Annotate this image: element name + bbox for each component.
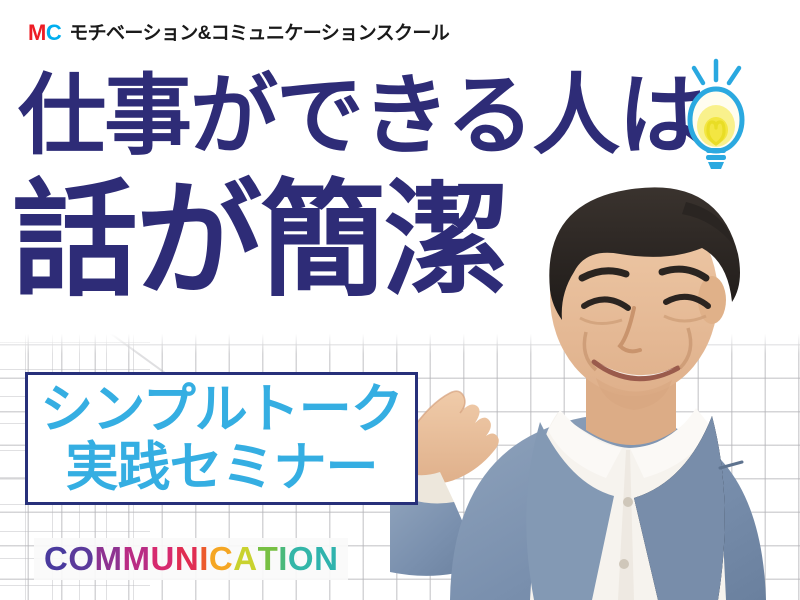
headline-line-1: 仕事ができる人は xyxy=(18,72,704,160)
subtitle-line-2: 実践セミナー xyxy=(66,439,378,496)
presenter-photo xyxy=(390,150,800,600)
wordmark-letter-7: C xyxy=(209,542,233,575)
communication-wordmark: COMMUNICATION xyxy=(34,538,348,580)
wordmark-letter-4: U xyxy=(151,542,175,575)
wordmark-letter-6: I xyxy=(199,542,209,575)
wordmark-letter-9: T xyxy=(258,542,279,575)
wordmark-letter-2: M xyxy=(95,542,123,575)
brand-logo-letter-c: C xyxy=(46,20,61,45)
wordmark-letter-5: N xyxy=(175,542,199,575)
wordmark-letter-1: O xyxy=(68,542,94,575)
subtitle-line-1: シンプルトーク xyxy=(40,381,402,438)
brand-logo: MC モチベーション&コミュニケーションスクール xyxy=(28,22,449,44)
wordmark-letter-11: O xyxy=(288,542,314,575)
wordmark-letter-3: M xyxy=(123,542,151,575)
poster-canvas: MC モチベーション&コミュニケーションスクール 仕事ができる人は 話が簡潔 xyxy=(0,0,800,600)
brand-name: モチベーション&コミュニケーションスクール xyxy=(69,24,449,43)
subtitle-box: シンプルトーク 実践セミナー xyxy=(25,372,418,505)
wordmark-letter-12: N xyxy=(314,542,338,575)
brand-logo-mark: MC xyxy=(28,22,61,44)
wordmark-letter-8: A xyxy=(233,542,257,575)
wordmark-letter-10: I xyxy=(278,542,288,575)
brand-logo-letter-m: M xyxy=(28,20,46,45)
wordmark-letter-0: C xyxy=(44,542,68,575)
